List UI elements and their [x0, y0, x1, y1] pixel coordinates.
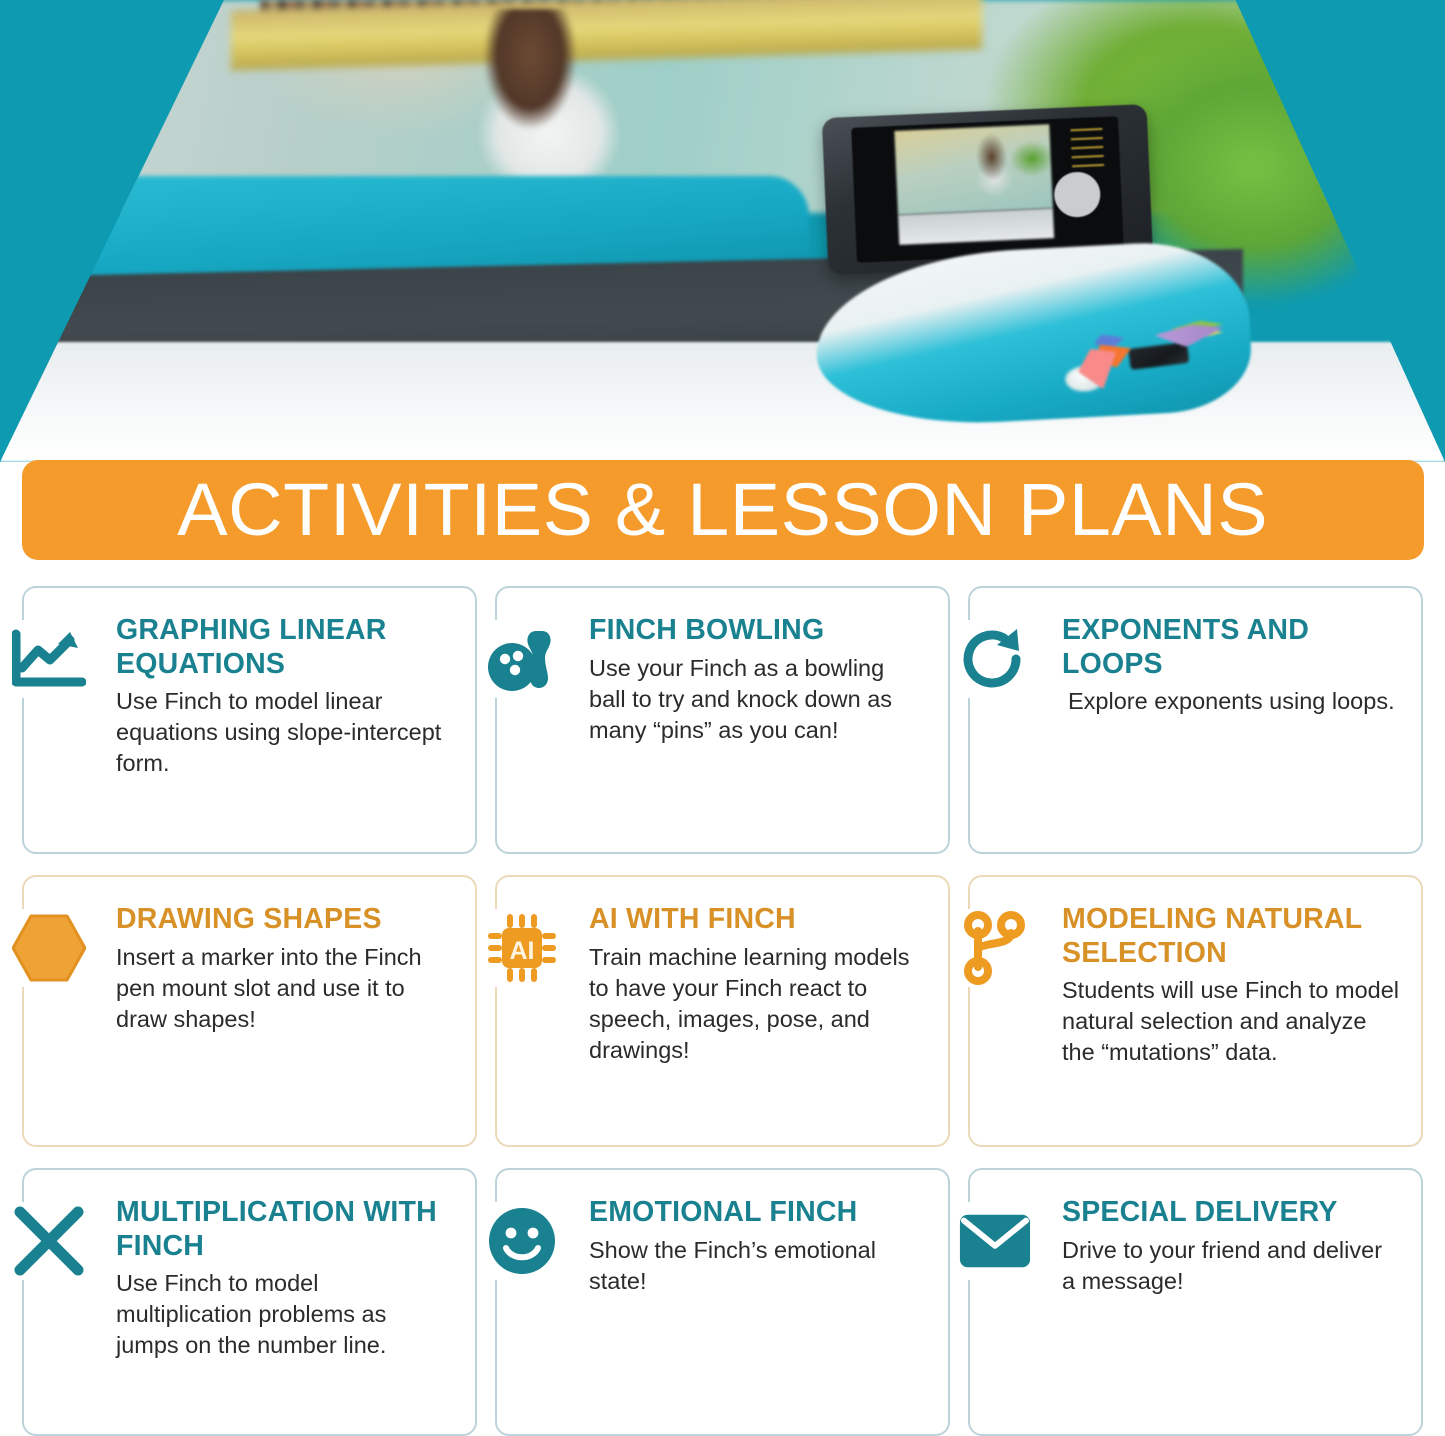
card-title: AI WITH FINCH	[589, 903, 926, 937]
page-title: ACTIVITIES & LESSON PLANS	[178, 473, 1269, 547]
activity-card-finch-bowling[interactable]: FINCH BOWLING Use your Finch as a bowlin…	[495, 586, 950, 854]
loop-arrow-icon	[952, 620, 1038, 698]
photo-camera-viewfinder-lower	[898, 208, 1054, 244]
card-description: Drive to your friend and deliver a messa…	[1062, 1235, 1399, 1297]
branch-nodes-icon	[952, 909, 1038, 987]
photo-camera-viewfinder	[894, 125, 1052, 215]
multiply-x-icon	[6, 1202, 92, 1280]
card-title: FINCH BOWLING	[589, 614, 926, 648]
activity-card-exponents-and-loops[interactable]: EXPONENTS AND LOOPS Explore exponents us…	[968, 586, 1423, 854]
card-description: Students will use Finch to model natural…	[1062, 975, 1399, 1068]
card-row-2: DRAWING SHAPES Insert a marker into the …	[0, 875, 1445, 1147]
activities-banner: ACTIVITIES & LESSON PLANS	[22, 460, 1424, 560]
card-title: GRAPHING LINEAR EQUATIONS	[116, 614, 453, 681]
activity-card-drawing-shapes[interactable]: DRAWING SHAPES Insert a marker into the …	[22, 875, 477, 1147]
activity-card-special-delivery[interactable]: SPECIAL DELIVERY Drive to your friend an…	[968, 1168, 1423, 1436]
photo-camera-mode-labels	[1070, 128, 1104, 170]
card-title: MODELING NATURAL SELECTION	[1062, 903, 1399, 970]
photo-phone-screen	[852, 116, 1124, 263]
card-title: EXPONENTS AND LOOPS	[1062, 614, 1399, 681]
activities-card-grid: GRAPHING LINEAR EQUATIONS Use Finch to m…	[0, 586, 1445, 1436]
card-description: Use your Finch as a bowling ball to try …	[589, 653, 926, 746]
photo-shutter-button	[1054, 171, 1101, 218]
activity-card-ai-with-finch[interactable]: AI AI WITH FINCH Train machine learning …	[495, 875, 950, 1147]
envelope-icon	[952, 1202, 1038, 1280]
card-description: Use Finch to model multiplication proble…	[116, 1268, 453, 1361]
card-title: DRAWING SHAPES	[116, 903, 453, 937]
activity-card-modeling-natural-selection[interactable]: MODELING NATURAL SELECTION Students will…	[968, 875, 1423, 1147]
photo-microbit-board	[1129, 342, 1190, 369]
card-description: Explore exponents using loops.	[1062, 686, 1399, 717]
card-description: Show the Finch’s emotional state!	[589, 1235, 926, 1297]
card-title: MULTIPLICATION WITH FINCH	[116, 1196, 453, 1263]
hero-banner-photo	[0, 0, 1445, 462]
card-row-3: MULTIPLICATION WITH FINCH Use Finch to m…	[0, 1168, 1445, 1436]
card-title: EMOTIONAL FINCH	[589, 1196, 926, 1230]
hexagon-icon	[6, 909, 92, 987]
card-description: Insert a marker into the Finch pen mount…	[116, 942, 453, 1035]
smiley-face-icon	[479, 1202, 565, 1280]
card-description: Use Finch to model linear equations usin…	[116, 686, 453, 779]
ai-chip-icon: AI	[479, 909, 565, 987]
card-description: Train machine learning models to have yo…	[589, 942, 926, 1066]
card-title: SPECIAL DELIVERY	[1062, 1196, 1399, 1230]
card-row-1: GRAPHING LINEAR EQUATIONS Use Finch to m…	[0, 586, 1445, 854]
hero-photo-clip	[0, 0, 1445, 462]
line-chart-arrow-icon	[6, 620, 92, 698]
bowling-ball-pin-icon	[479, 620, 565, 698]
activity-card-multiplication-with-finch[interactable]: MULTIPLICATION WITH FINCH Use Finch to m…	[22, 1168, 477, 1436]
svg-text:AI: AI	[510, 937, 535, 965]
activity-card-graphing-linear-equations[interactable]: GRAPHING LINEAR EQUATIONS Use Finch to m…	[22, 586, 477, 854]
activity-card-emotional-finch[interactable]: EMOTIONAL FINCH Show the Finch’s emotion…	[495, 1168, 950, 1436]
